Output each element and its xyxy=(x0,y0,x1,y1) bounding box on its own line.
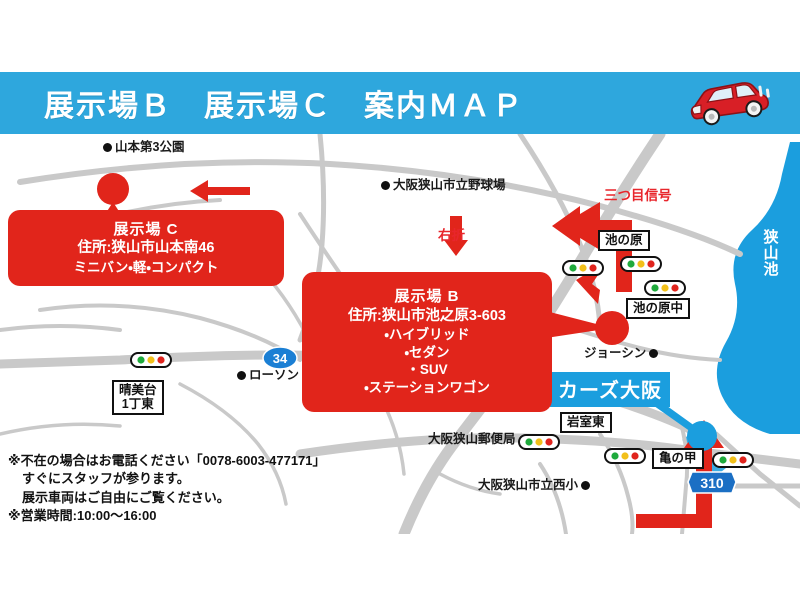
showroom-c-heading: 展示場 C xyxy=(8,220,284,240)
intersection-iwamurohigashi: 岩室東 xyxy=(560,412,612,433)
place-label-post-office: 大阪狭山郵便局 xyxy=(428,432,531,446)
black-dot-icon xyxy=(581,481,590,490)
water-label-sayamaike: 狭山池 xyxy=(758,230,784,277)
traffic-signal-icon xyxy=(604,448,646,464)
traffic-signal-icon xyxy=(620,256,662,272)
traffic-signal-icon xyxy=(130,352,172,368)
place-label-nishi-elementary: 大阪狭山市立西小 xyxy=(478,478,593,492)
note-line-1: ※不在の場合はお電話ください「0078-6003-477171」 xyxy=(8,452,428,470)
dealer-banner-cars-osaka: カーズ大阪 xyxy=(550,372,670,407)
page-title: 展示場Ｂ 展示場Ｃ 案内ＭＡＰ xyxy=(44,81,524,125)
intersection-harumidai: 晴美台1丁東 xyxy=(112,380,164,415)
map-page: 展示場Ｂ 展示場Ｃ 案内ＭＡＰ xyxy=(0,0,800,600)
traffic-signal-icon xyxy=(644,280,686,296)
showroom-c-address: 住所:狭山市山本南46 xyxy=(8,239,284,258)
black-dot-icon xyxy=(237,371,246,380)
sayama-pond-water xyxy=(717,142,800,434)
traffic-signal-icon xyxy=(518,434,560,450)
footer-notes: ※不在の場合はお電話ください「0078-6003-477171」 すぐにスタッフ… xyxy=(8,452,428,526)
black-dot-icon xyxy=(103,143,112,152)
place-label-lawson: ローソン xyxy=(234,368,299,382)
showroom-b-item-0: ・ハイブリッド xyxy=(302,326,552,344)
showroom-b-marker xyxy=(595,311,629,345)
showroom-b-item-3: ・ステーションワゴン xyxy=(302,379,552,397)
callout-showroom-c[interactable]: 展示場 C 住所:狭山市山本南46 ミニバン・軽・コンパクト xyxy=(8,210,284,286)
showroom-b-item-2: ・SUV xyxy=(302,361,552,379)
intersection-ikenohara: 池の原 xyxy=(598,230,650,251)
route-note-third-signal: 三つ目信号 xyxy=(604,184,672,204)
place-label-joshin: ジョーシン xyxy=(584,346,661,360)
showroom-b-address: 住所:狭山市池之原3-603 xyxy=(302,307,552,326)
black-dot-icon xyxy=(649,349,658,358)
note-line-4: ※営業時間:10:00～16:00 xyxy=(8,507,428,525)
intersection-kamenoko: 亀の甲 xyxy=(652,448,704,469)
route-note-turn-right: 右折 xyxy=(438,224,465,244)
callout-showroom-b[interactable]: 展示場 B 住所:狭山市池之原3-603 ・ハイブリッド ・セダン ・SUV ・… xyxy=(302,272,552,412)
showroom-c-items: ミニバン・軽・コンパクト xyxy=(8,259,284,277)
header-banner: 展示場Ｂ 展示場Ｃ 案内ＭＡＰ xyxy=(0,72,800,134)
note-line-2: すぐにスタッフが参ります。 xyxy=(8,470,428,488)
showroom-b-item-1: ・セダン xyxy=(302,344,552,362)
route-shield-310: 310 xyxy=(686,468,738,496)
svg-text:310: 310 xyxy=(700,475,724,491)
place-label-yamamoto-park: 山本第3公園 xyxy=(100,140,184,154)
traffic-signal-icon xyxy=(562,260,604,276)
svg-text:34: 34 xyxy=(273,351,288,366)
place-label-baseball-stadium: 大阪狭山市立野球場 xyxy=(378,178,506,192)
route-shield-34: 34 xyxy=(262,346,298,370)
showroom-c-marker xyxy=(97,173,129,205)
note-line-3: 展示車両はご自由にご覧ください。 xyxy=(8,489,428,507)
traffic-signal-icon xyxy=(712,452,754,468)
red-car-icon xyxy=(682,78,778,130)
showroom-b-heading: 展示場 B xyxy=(302,287,552,307)
dealer-marker xyxy=(687,421,717,451)
intersection-ikenoharanaka: 池の原中 xyxy=(626,298,690,319)
black-dot-icon xyxy=(381,181,390,190)
